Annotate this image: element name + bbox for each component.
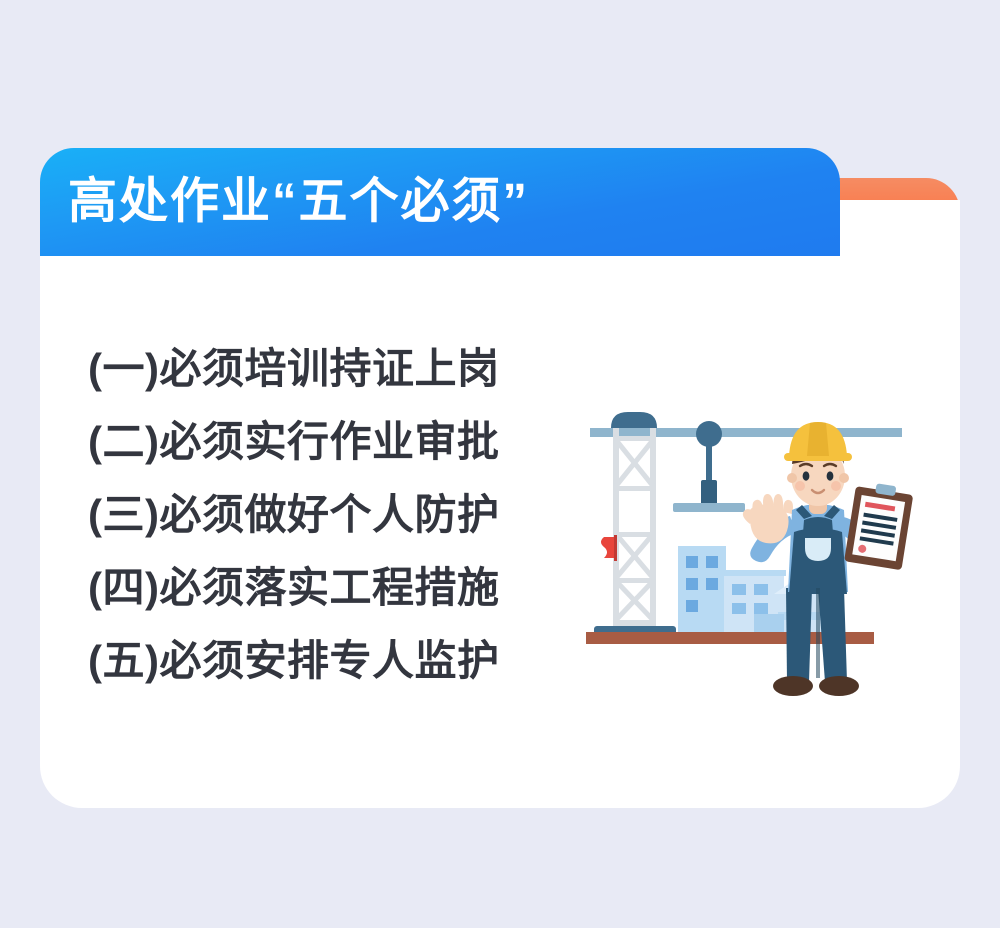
red-flag-icon — [601, 537, 616, 558]
list-item: (四)必须落实工程措施 — [88, 567, 528, 609]
flag-pole-icon — [614, 535, 617, 561]
building-icon — [678, 546, 726, 632]
worker-cheek-icon — [795, 481, 805, 491]
hard-hat-ridge-icon — [807, 422, 829, 456]
page-title: 高处作业“五个必须” — [68, 178, 529, 227]
worker-boot-icon — [773, 676, 813, 696]
worker-cheek-icon — [831, 481, 841, 491]
header-tab: 高处作业“五个必须” — [40, 148, 840, 256]
poster-canvas: 高处作业“五个必须” (一)必须培训持证上岗 (二)必须实行作业审批 (三)必须… — [0, 0, 1000, 928]
crane-tower-icon — [613, 428, 619, 626]
construction-worker-illustration — [578, 398, 918, 708]
list-item: (三)必须做好个人防护 — [88, 494, 528, 536]
rules-list: (一)必须培训持证上岗 (二)必须实行作业审批 (三)必须做好个人防护 (四)必… — [88, 348, 528, 682]
crane-cap-icon — [611, 412, 657, 428]
crane-jib-icon — [590, 428, 902, 437]
worker-ear-icon — [787, 473, 797, 483]
building-roof-icon — [722, 570, 786, 576]
crane-tie-icon — [613, 436, 656, 441]
list-item: (五)必须安排专人监护 — [88, 640, 528, 682]
worker-leg-icon — [786, 588, 812, 682]
worker-pocket-icon — [805, 538, 831, 561]
building-icon — [754, 614, 784, 632]
list-item: (二)必须实行作业审批 — [88, 421, 528, 463]
crane-tie-icon — [613, 620, 656, 626]
crane-tie-icon — [613, 486, 656, 491]
crane-load-plate-icon — [673, 503, 745, 512]
worker-leg-icon — [818, 588, 847, 682]
worker-eye-icon — [803, 471, 810, 480]
worker-eye-icon — [827, 471, 834, 480]
clipboard-icon — [844, 480, 914, 570]
worker-ear-icon — [839, 473, 849, 483]
list-item: (一)必须培训持证上岗 — [88, 348, 528, 390]
worker-boot-icon — [819, 676, 859, 696]
crane-brace-icon — [616, 440, 653, 620]
crane-tower-icon — [650, 428, 656, 626]
overalls-seam-icon — [816, 588, 820, 678]
